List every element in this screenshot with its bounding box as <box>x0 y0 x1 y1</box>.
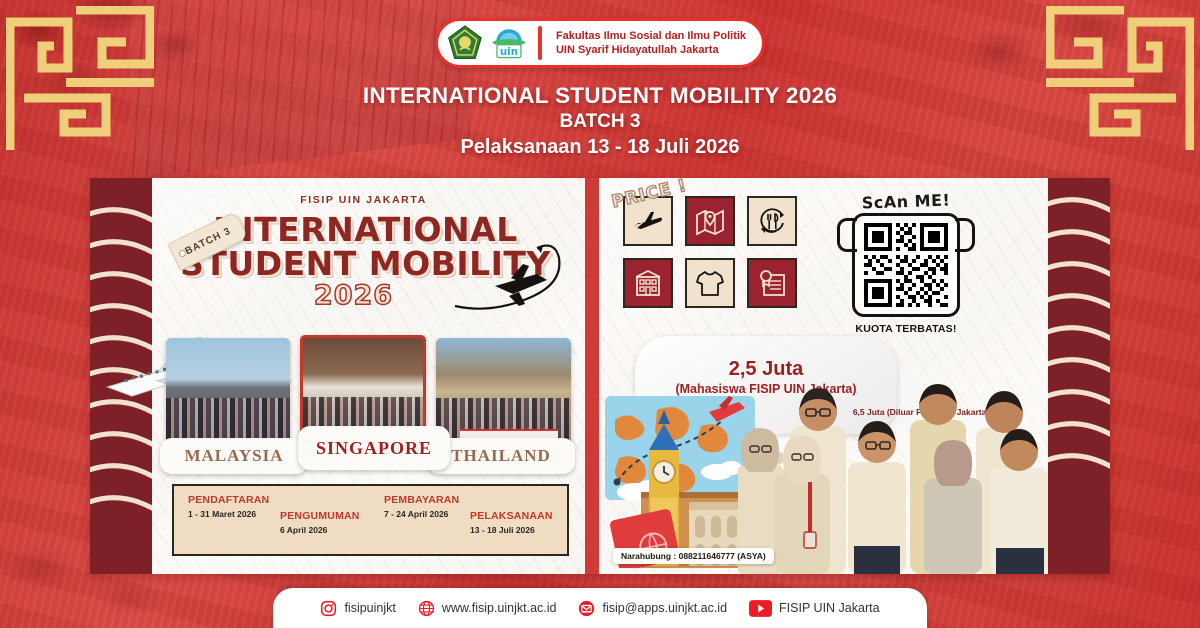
certificate-icon <box>756 268 788 298</box>
footer-item-email[interactable]: fisip@apps.uinjkt.ac.id <box>578 600 727 617</box>
wave-lines-right <box>1048 178 1110 574</box>
cutlery-icon <box>756 206 788 236</box>
map-pin-icon <box>694 206 726 236</box>
left-panel-content: FISIP UIN JAKARTA INTERNATIONAL STUDENT … <box>152 178 585 574</box>
feature-meals <box>747 196 797 246</box>
instagram-icon <box>320 600 337 617</box>
building-icon <box>632 268 664 298</box>
fisip-kicker: FISIP UIN JAKARTA <box>152 194 575 206</box>
schedule-title: PENDAFTARAN <box>188 494 269 506</box>
schedule-box: PENDAFTARAN 1 - 31 Maret 2026 PENGUMUMAN… <box>172 484 569 556</box>
qr-code-frame[interactable] <box>852 213 960 317</box>
feature-certificate <box>747 258 797 308</box>
schedule-date: 7 - 24 April 2026 <box>384 509 459 519</box>
faculty-logo-bar: uin Fakultas Ilmu Sosial dan Ilmu Politi… <box>435 18 765 68</box>
schedule-date: 13 - 18 Juli 2026 <box>470 525 553 535</box>
feature-icon-grid <box>623 196 797 308</box>
page-title: INTERNATIONAL STUDENT MOBILITY 2026 BATC… <box>0 82 1200 160</box>
youtube-icon <box>749 600 772 617</box>
footer-label-youtube: FISIP UIN Jakarta <box>779 601 880 615</box>
social-footer-bar: fisipuinjkt www.fisip.uinjkt.ac.id fisip… <box>273 588 927 628</box>
country-tag-malaysia: MALAYSIA <box>160 438 308 474</box>
plane-doodle-icon <box>451 236 581 322</box>
right-panel-content: ScAn ME! <box>599 178 1052 574</box>
scan-me-label: ScAn ME! <box>845 190 968 213</box>
poster-right-panel: ScAn ME! <box>599 178 1110 574</box>
student-front-3 <box>848 421 906 574</box>
svg-text:uin: uin <box>500 46 518 58</box>
quota-label: KUOTA TERBATAS! <box>845 323 967 335</box>
footer-label-website: www.fisip.uinjkt.ac.id <box>442 601 557 615</box>
footer-label-instagram: fisipuinjkt <box>344 601 395 615</box>
bracket-right-icon <box>955 218 975 252</box>
feature-accommodation <box>623 258 673 308</box>
tshirt-icon <box>694 268 726 298</box>
logo-divider <box>538 26 542 60</box>
kemenag-logo <box>448 25 482 61</box>
schedule-title: PEMBAYARAN <box>384 494 459 506</box>
title-line-1: INTERNATIONAL STUDENT MOBILITY 2026 <box>0 82 1200 109</box>
faculty-line-1: Fakultas Ilmu Sosial dan Ilmu Politik <box>556 29 746 43</box>
poster-banner: FISIP UIN JAKARTA INTERNATIONAL STUDENT … <box>90 178 1110 574</box>
footer-item-youtube[interactable]: FISIP UIN Jakarta <box>749 600 880 617</box>
footer-item-website[interactable]: www.fisip.uinjkt.ac.id <box>418 600 557 617</box>
qr-scan-block: ScAn ME! <box>845 192 967 335</box>
schedule-title: PENGUMUMAN <box>280 510 360 522</box>
schedule-item-pendaftaran: PENDAFTARAN 1 - 31 Maret 2026 <box>188 494 269 519</box>
schedule-date: 6 April 2026 <box>280 525 360 535</box>
title-line-3: Pelaksanaan 13 - 18 Juli 2026 <box>0 134 1200 160</box>
contact-info: Narahubung : 088211646777 (ASYA) <box>613 548 774 564</box>
uin-logo: uin <box>490 25 528 61</box>
country-tag-singapore: SINGAPORE <box>298 426 450 470</box>
schedule-date: 1 - 31 Maret 2026 <box>188 509 269 519</box>
schedule-item-pembayaran: PEMBAYARAN 7 - 24 April 2026 <box>384 494 459 519</box>
country-tags: MALAYSIA THAILAND SINGAPORE <box>156 430 581 474</box>
qr-code-icon[interactable] <box>864 223 948 307</box>
footer-item-instagram[interactable]: fisipuinjkt <box>320 600 395 617</box>
feature-map-pin <box>685 196 735 246</box>
schedule-item-pengumuman: PENGUMUMAN 6 April 2026 <box>280 510 360 535</box>
feature-tshirt <box>685 258 735 308</box>
schedule-item-pelaksanaan: PELAKSANAAN 13 - 18 Juli 2026 <box>470 510 553 535</box>
poster-panel-divider <box>585 178 599 574</box>
globe-icon <box>418 600 435 617</box>
faculty-name: Fakultas Ilmu Sosial dan Ilmu Politik UI… <box>556 29 746 57</box>
title-line-2: BATCH 3 <box>0 109 1200 134</box>
bracket-left-icon <box>837 218 857 252</box>
schedule-title: PELAKSANAAN <box>470 510 553 522</box>
right-decorative-bar <box>1048 178 1110 574</box>
students-photo <box>738 370 1056 574</box>
airplane-icon <box>633 206 663 236</box>
faculty-line-2: UIN Syarif Hidayatullah Jakarta <box>556 43 746 57</box>
footer-label-email: fisip@apps.uinjkt.ac.id <box>602 601 727 615</box>
email-icon <box>578 600 595 617</box>
poster-left-panel: FISIP UIN JAKARTA INTERNATIONAL STUDENT … <box>90 178 585 574</box>
